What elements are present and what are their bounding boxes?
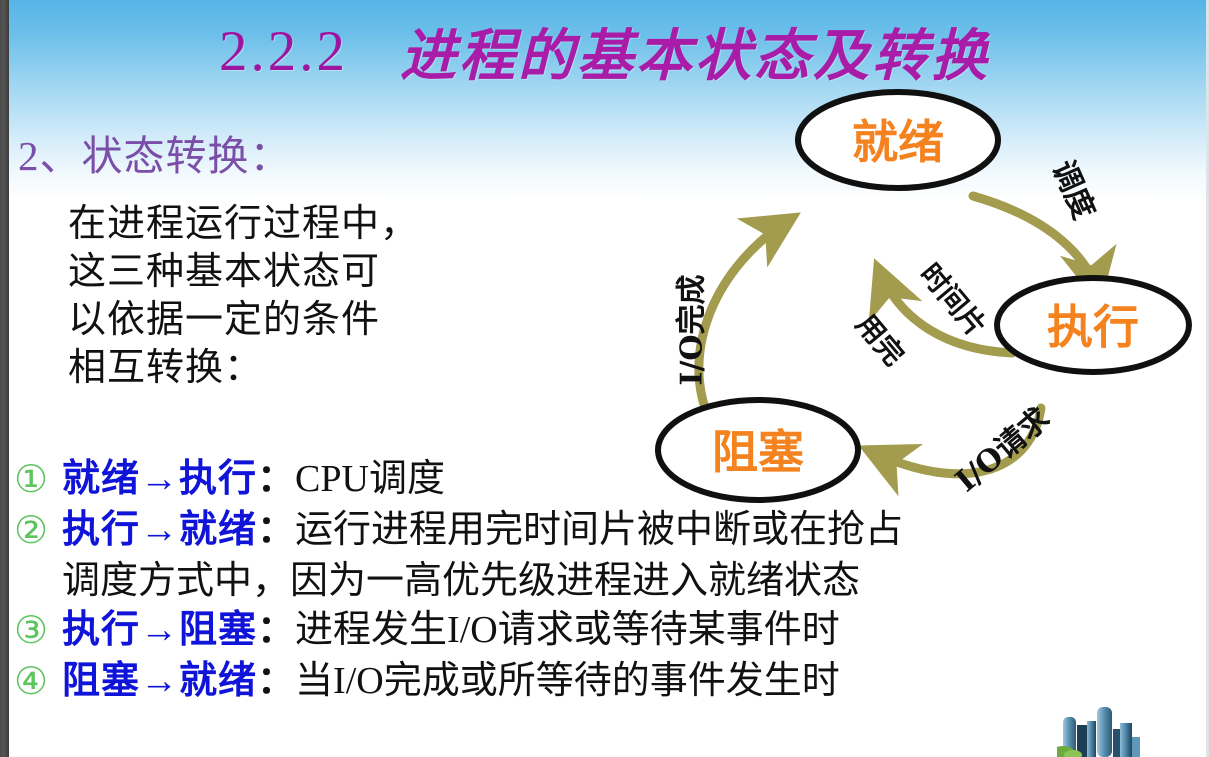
transition-from: 执行 <box>62 509 140 551</box>
edge-blocked-to-ready <box>699 218 792 416</box>
transition-from: 就绪 <box>62 458 140 500</box>
state-node-ready[interactable]: 就绪 <box>798 92 998 188</box>
transition-arrow-icon: → <box>140 509 179 551</box>
list-item: ③ 执行→阻塞：进程发生I/O请求或等待某事件时 <box>14 606 1194 655</box>
transition-to: 执行 <box>179 458 257 500</box>
list-item-body: 就绪→执行：CPU调度 <box>62 455 1194 504</box>
transition-list: ① 就绪→执行：CPU调度 ② 执行→就绪：运行进程用完时间片被中断或在抢占 调… <box>14 455 1194 708</box>
transition-to: 阻塞 <box>179 609 257 651</box>
section-heading-state-transition: 2、状态转换： <box>18 122 292 182</box>
transition-to: 就绪 <box>179 509 257 551</box>
transition-colon: ： <box>257 609 295 651</box>
edge-label-time-slice-used-up: 用完 <box>849 308 910 372</box>
transition-description: 当I/O完成或所等待的事件发生时 <box>295 660 840 702</box>
state-node-running[interactable]: 执行 <box>997 278 1189 372</box>
list-item-body: 阻塞→就绪：当I/O完成或所等待的事件发生时 <box>62 657 1194 706</box>
edge-label-scheduling: 调度 <box>1045 155 1101 224</box>
intro-paragraph-line: 这三种基本状态可 <box>68 248 419 296</box>
intro-paragraph-line: 以依据一定的条件 <box>68 296 419 344</box>
transition-arrow-icon: → <box>140 660 179 702</box>
intro-paragraph-line: 在进程运行过程中， <box>68 200 419 248</box>
slide-canvas: 2.2.2 进程的基本状态及转换 2、状态转换： 在进程运行过程中， 这三种基本… <box>0 0 1209 757</box>
transition-colon: ： <box>257 509 295 551</box>
list-item-body: 执行→就绪：运行进程用完时间片被中断或在抢占 <box>62 506 1194 555</box>
list-marker: ② <box>14 506 62 555</box>
transition-colon: ： <box>257 660 295 702</box>
transition-colon: ： <box>257 458 295 500</box>
intro-paragraph-line: 相互转换： <box>68 344 419 392</box>
transition-arrow-icon: → <box>140 458 179 500</box>
transition-description-continued: 调度方式中，因为一高优先级进程进入就绪状态 <box>62 557 1194 606</box>
state-node-running-label: 执行 <box>1047 300 1139 354</box>
city-skyline-decoration <box>1057 695 1157 757</box>
title-section-number: 2.2.2 <box>219 19 348 84</box>
list-item-body: 执行→阻塞：进程发生I/O请求或等待某事件时 <box>62 606 1194 655</box>
list-item: ① 就绪→执行：CPU调度 <box>14 455 1194 504</box>
list-marker: ① <box>14 455 62 504</box>
transition-from: 执行 <box>62 609 140 651</box>
edge-label-io-complete: I/O完成 <box>675 274 710 385</box>
transition-arrow-icon: → <box>140 609 179 651</box>
transition-to: 就绪 <box>179 660 257 702</box>
left-border-strip <box>0 0 9 757</box>
transition-description: 进程发生I/O请求或等待某事件时 <box>295 609 840 651</box>
state-node-ready-label: 就绪 <box>852 115 944 169</box>
list-item: ② 执行→就绪：运行进程用完时间片被中断或在抢占 <box>14 506 1194 555</box>
transition-from: 阻塞 <box>62 660 140 702</box>
transition-description: CPU调度 <box>295 458 445 500</box>
intro-paragraph: 在进程运行过程中， 这三种基本状态可 以依据一定的条件 相互转换： <box>68 200 419 392</box>
transition-description: 运行进程用完时间片被中断或在抢占 <box>295 509 903 551</box>
list-item: ④ 阻塞→就绪：当I/O完成或所等待的事件发生时 <box>14 657 1194 706</box>
list-marker: ③ <box>14 606 62 655</box>
list-marker: ④ <box>14 657 62 706</box>
